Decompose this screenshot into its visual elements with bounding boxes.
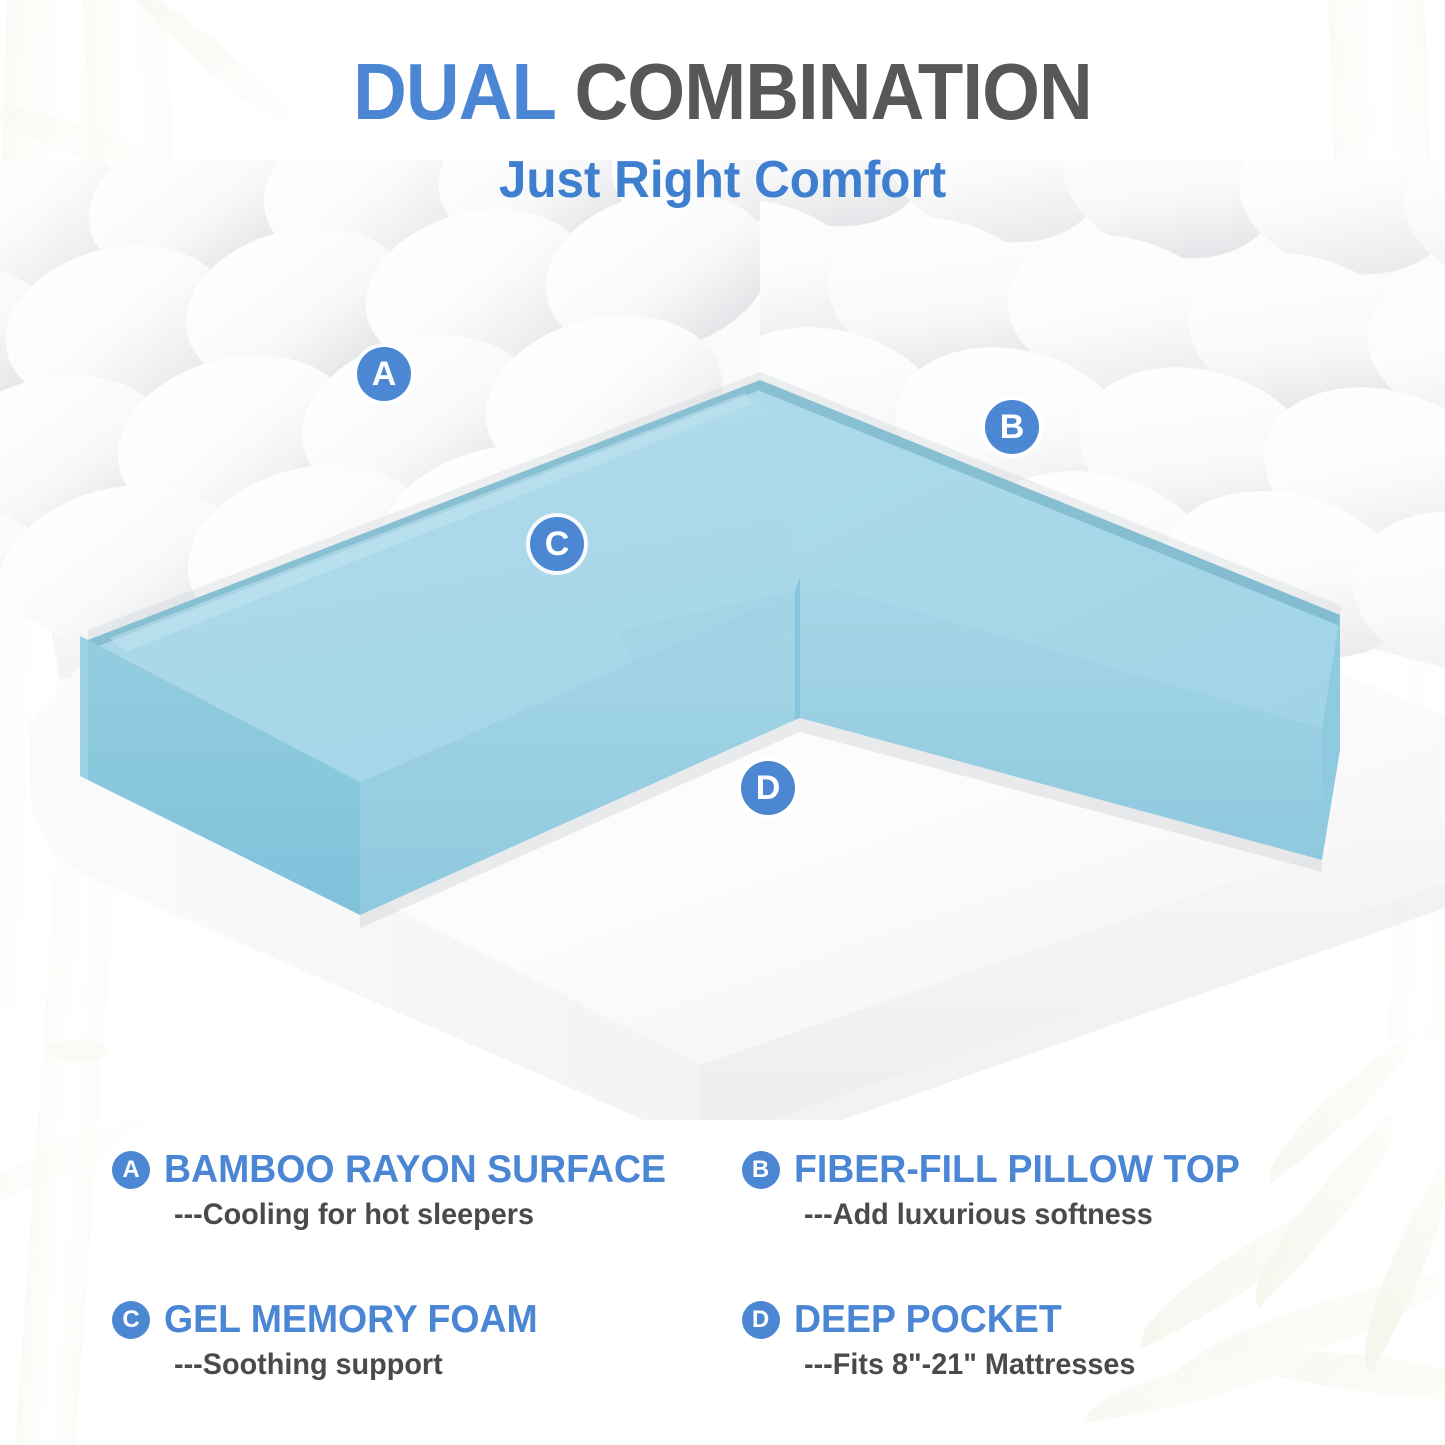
- legend-title-b: FIBER-FILL PILLOW TOP: [794, 1148, 1240, 1192]
- legend-title-a: BAMBOO RAYON SURFACE: [164, 1148, 666, 1192]
- legend-badge-d: D: [742, 1301, 780, 1339]
- page-title: DUAL COMBINATION: [51, 52, 1395, 132]
- legend-head: C GEL MEMORY FOAM: [112, 1298, 704, 1342]
- legend-head: B FIBER-FILL PILLOW TOP: [742, 1148, 1334, 1192]
- header: DUAL COMBINATION Just Right Comfort: [0, 52, 1445, 206]
- legend-sub-a: ---Cooling for hot sleepers: [174, 1198, 682, 1232]
- legend-badge-b: B: [742, 1151, 780, 1189]
- legend-sub-d: ---Fits 8"-21" Mattresses: [804, 1348, 1312, 1382]
- infographic-canvas: DUAL COMBINATION Just Right Comfort: [0, 0, 1445, 1445]
- callout-badge-a[interactable]: A: [357, 347, 411, 401]
- legend-badge-a: A: [112, 1151, 150, 1189]
- legend-title-d: DEEP POCKET: [794, 1298, 1062, 1342]
- mattress-pad-illustration: [0, 160, 1445, 1120]
- feature-legend: A BAMBOO RAYON SURFACE ---Cooling for ho…: [0, 1148, 1445, 1382]
- legend-sub-c: ---Soothing support: [174, 1348, 682, 1382]
- callout-badge-b[interactable]: B: [985, 400, 1039, 454]
- legend-item-deep-pocket[interactable]: D DEEP POCKET ---Fits 8"-21" Mattresses: [742, 1298, 1334, 1382]
- callout-badge-c[interactable]: C: [530, 517, 584, 571]
- legend-sub-b: ---Add luxurious softness: [804, 1198, 1312, 1232]
- legend-head: A BAMBOO RAYON SURFACE: [112, 1148, 704, 1192]
- legend-item-bamboo-rayon-surface[interactable]: A BAMBOO RAYON SURFACE ---Cooling for ho…: [112, 1148, 704, 1232]
- callout-badge-d[interactable]: D: [741, 761, 795, 815]
- title-word-combination: COMBINATION: [574, 47, 1091, 136]
- legend-item-fiber-fill-pillow-top[interactable]: B FIBER-FILL PILLOW TOP ---Add luxurious…: [742, 1148, 1334, 1232]
- legend-head: D DEEP POCKET: [742, 1298, 1334, 1342]
- legend-badge-c: C: [112, 1301, 150, 1339]
- page-subtitle: Just Right Comfort: [36, 154, 1409, 206]
- legend-title-c: GEL MEMORY FOAM: [164, 1298, 538, 1342]
- legend-item-gel-memory-foam[interactable]: C GEL MEMORY FOAM ---Soothing support: [112, 1298, 704, 1382]
- title-word-dual: DUAL: [353, 47, 555, 136]
